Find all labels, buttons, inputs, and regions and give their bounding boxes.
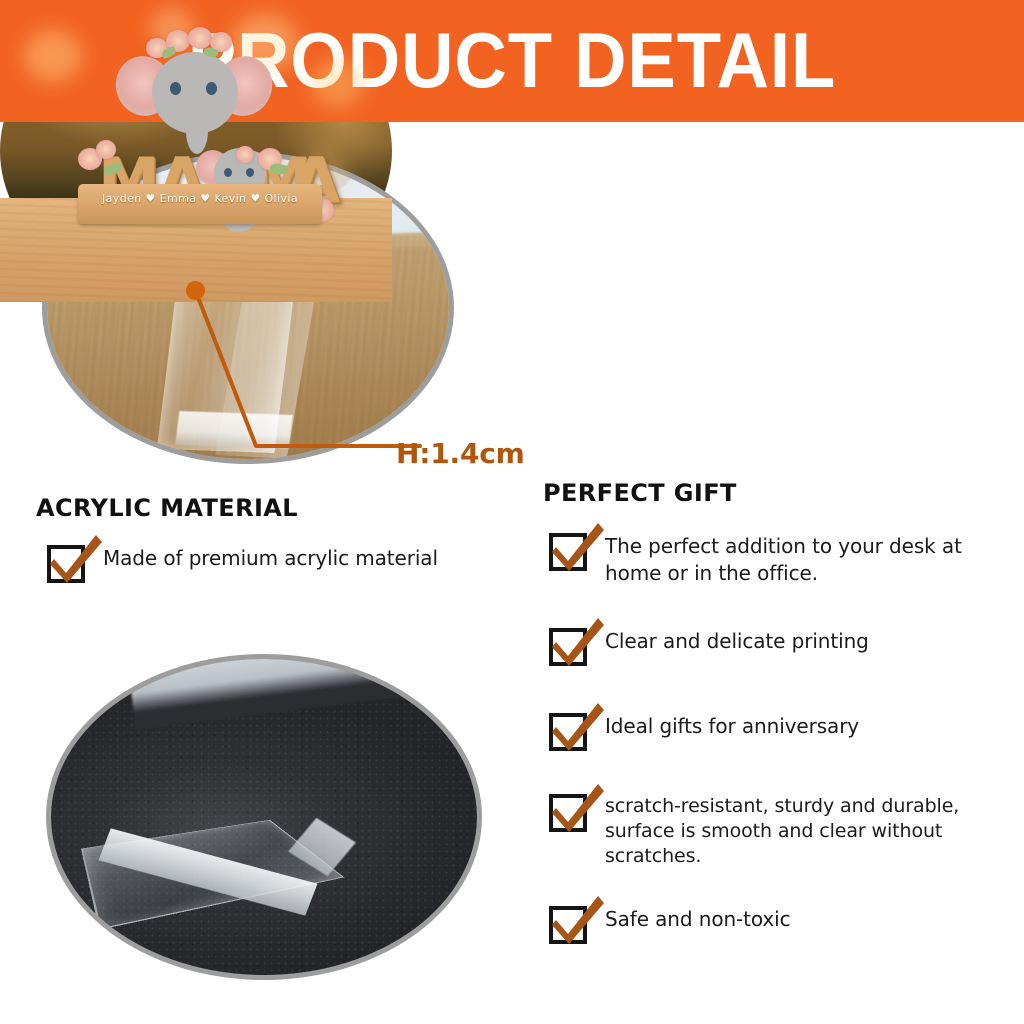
feature-item: Ideal gifts for anniversary — [549, 713, 1001, 751]
checkbox-icon — [549, 906, 587, 944]
feature-item: Made of premium acrylic material — [47, 545, 517, 583]
flower — [236, 146, 254, 163]
feature-text: The perfect addition to your desk at hom… — [605, 533, 1001, 587]
feature-item: The perfect addition to your desk at hom… — [549, 533, 1001, 587]
checkbox-icon — [47, 545, 85, 583]
check-icon — [551, 616, 605, 668]
flower — [96, 140, 116, 159]
flower — [188, 27, 212, 49]
checkbox-icon — [549, 713, 587, 751]
baby-elephant-eye-left — [224, 168, 232, 177]
checkbox-icon — [549, 628, 587, 666]
check-icon — [551, 701, 605, 753]
feature-text: Ideal gifts for anniversary — [605, 713, 859, 740]
check-icon — [551, 894, 605, 946]
check-icon — [551, 782, 605, 834]
feature-text: Safe and non-toxic — [605, 906, 791, 933]
engraved-names: Jayden ♥ Emma ♥ Kevin ♥ Olivia — [78, 192, 322, 205]
elephant-eye-right — [206, 82, 217, 95]
baby-elephant-eye-right — [246, 168, 254, 177]
feature-item: Safe and non-toxic — [549, 906, 1001, 944]
check-icon — [49, 533, 103, 585]
callout-dot-icon — [186, 281, 205, 300]
feature-item: scratch-resistant, sturdy and durable, s… — [549, 794, 1007, 869]
checkbox-icon — [549, 533, 587, 571]
thickness-label: H:1.4cm — [396, 438, 525, 470]
section-heading-perfect-gift: PERFECT GIFT — [543, 479, 737, 507]
check-icon — [551, 521, 605, 573]
bokeh-light — [24, 30, 82, 82]
feature-item: Clear and delicate printing — [549, 628, 1001, 666]
feature-text: Clear and delicate printing — [605, 628, 869, 655]
product-detail-page: PRODUCT DETAIL M A M — [0, 0, 1024, 1024]
feature-text: scratch-resistant, sturdy and durable, s… — [605, 794, 1007, 869]
acrylic-block-photo — [46, 654, 482, 980]
section-heading-acrylic-material: ACRYLIC MATERIAL — [36, 494, 298, 522]
feature-text: Made of premium acrylic material — [103, 545, 438, 572]
elephant-eye-left — [170, 82, 181, 95]
callout-leader-line — [180, 280, 420, 470]
checkbox-icon — [549, 794, 587, 832]
bokeh-light — [312, 60, 364, 108]
